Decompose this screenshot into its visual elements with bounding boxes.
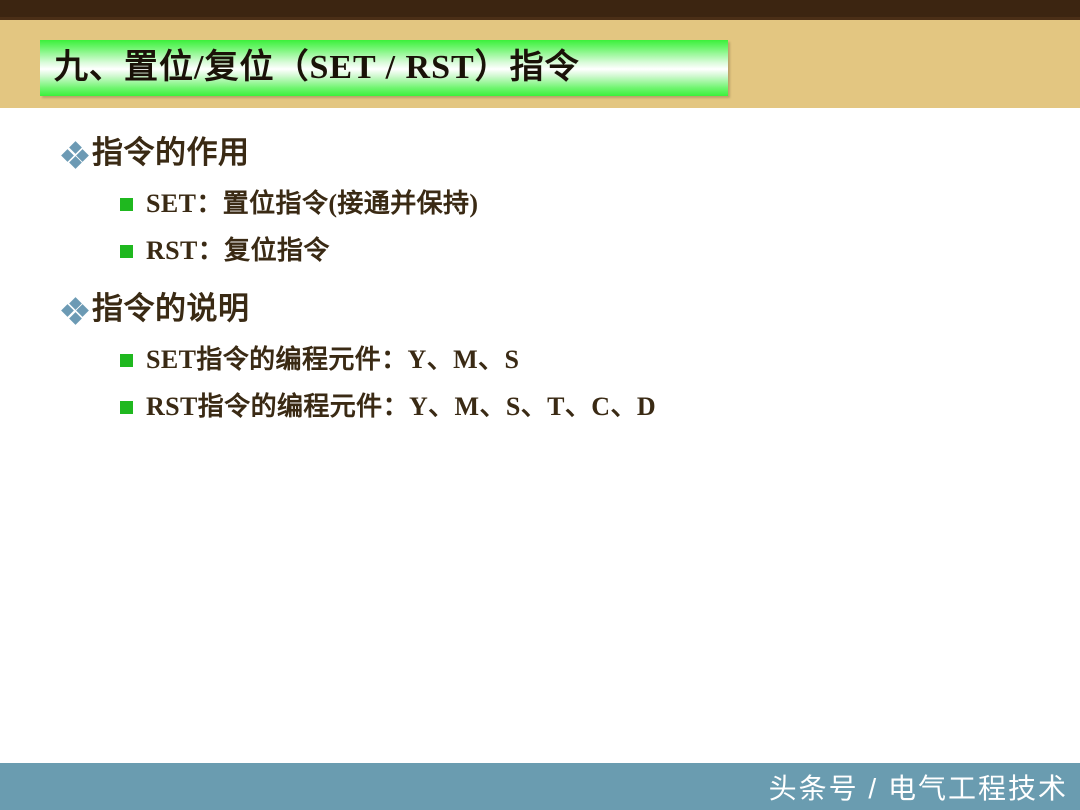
list-item-label: RST指令的编程元件：Y、M、S、T、C、D	[146, 392, 656, 422]
list-item: SET指令的编程元件：Y、M、S	[120, 345, 1080, 375]
list-item: RST：复位指令	[120, 236, 1080, 266]
section-heading-row: 指令的作用	[62, 108, 1080, 170]
title-plate: 九、置位/复位（SET / RST）指令	[40, 40, 728, 96]
green-square-bullet-icon	[120, 401, 133, 414]
list-item: SET：置位指令(接通并保持)	[120, 189, 1080, 219]
diamond-cluster-bullet-icon	[62, 298, 88, 324]
list-item-label: RST：复位指令	[146, 236, 330, 266]
section-heading-label: 指令的作用	[92, 136, 250, 170]
footer-bar: 头条号 / 电气工程技术	[0, 763, 1080, 810]
green-square-bullet-icon	[120, 245, 133, 258]
list-item-label: SET：置位指令(接通并保持)	[146, 189, 478, 219]
slide-body: 指令的作用 SET：置位指令(接通并保持) RST：复位指令 指令的说明 SET…	[0, 108, 1080, 763]
green-square-bullet-icon	[120, 198, 133, 211]
list-item: RST指令的编程元件：Y、M、S、T、C、D	[120, 392, 1080, 422]
footer-watermark-label: 头条号 / 电气工程技术	[769, 767, 1080, 807]
page-title: 九、置位/复位（SET / RST）指令	[40, 51, 580, 85]
top-dark-band	[0, 0, 1080, 20]
green-square-bullet-icon	[120, 354, 133, 367]
section-heading-label: 指令的说明	[92, 292, 250, 326]
list-item-label: SET指令的编程元件：Y、M、S	[146, 345, 519, 375]
diamond-cluster-bullet-icon	[62, 142, 88, 168]
section-heading-row: 指令的说明	[62, 266, 1080, 326]
slide-root: 九、置位/复位（SET / RST）指令 指令的作用 SET：置位指令(接通并保…	[0, 0, 1080, 810]
